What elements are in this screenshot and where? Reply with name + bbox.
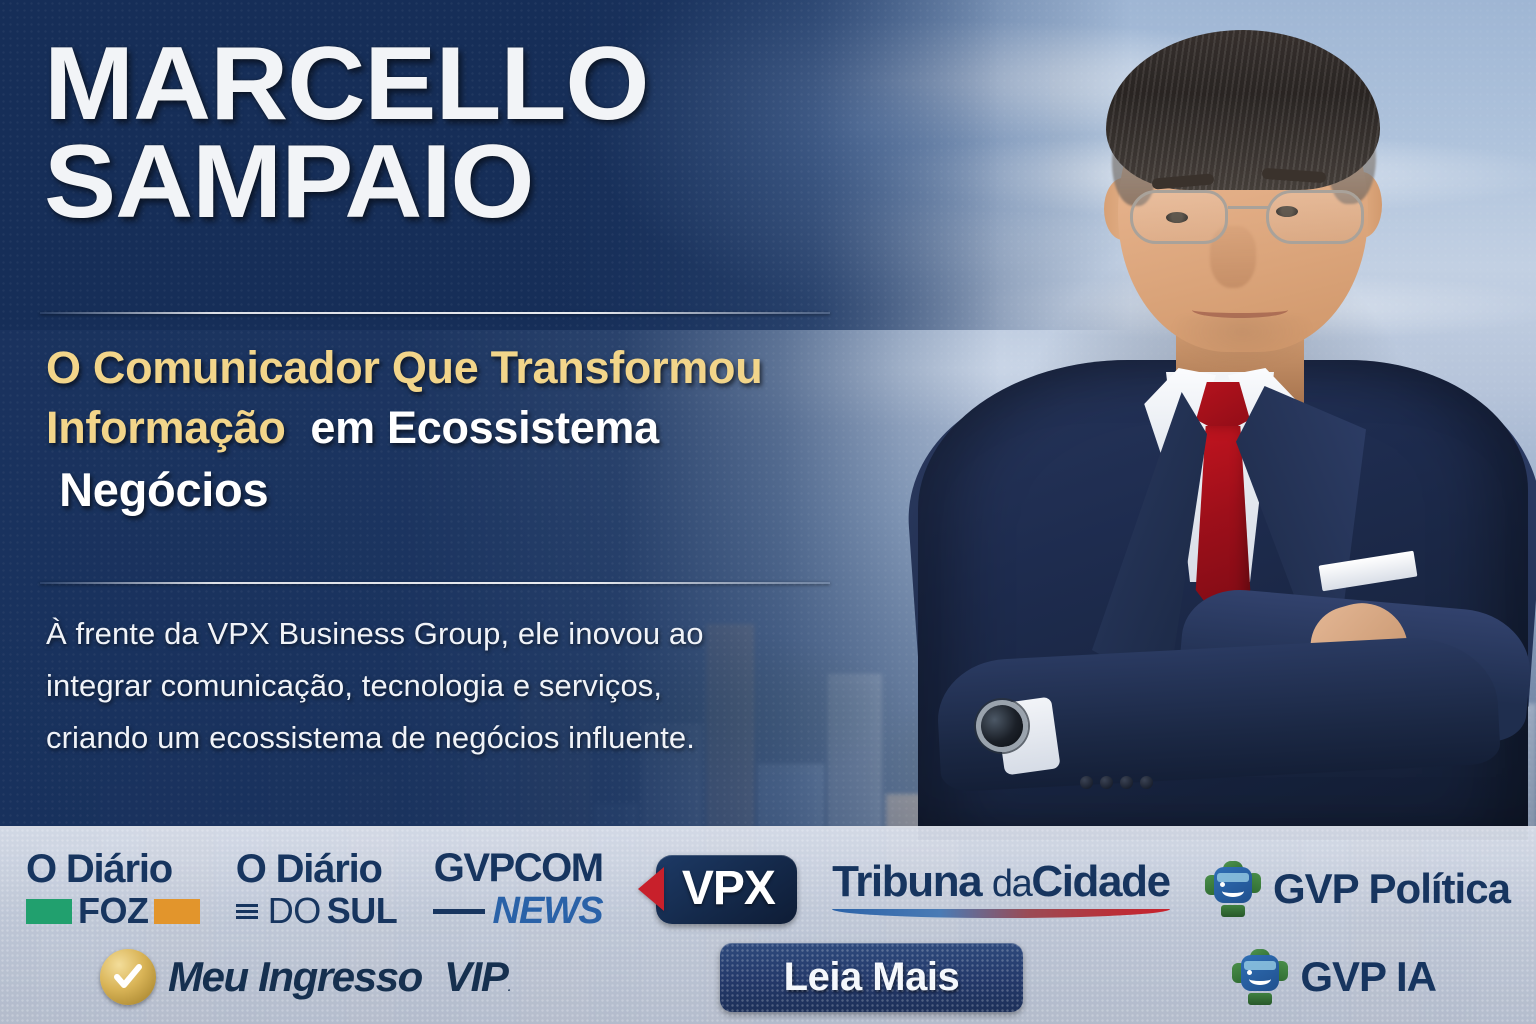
gvp-robot-mascot-icon (1232, 949, 1288, 1005)
avatar (880, 0, 1536, 840)
tribuna-middle: da (992, 863, 1031, 905)
subtitle-white-3: Negócios (59, 463, 268, 516)
diario-sul-prefix: DO (268, 893, 321, 929)
logo-meu-ingresso-vip[interactable]: Meu Ingresso VIP. (100, 949, 511, 1005)
subtitle-gold-2: Informação (46, 402, 286, 453)
divider-bottom (40, 582, 830, 584)
logo-gvp-ia[interactable]: GVP IA (1232, 949, 1436, 1005)
page-title: MARCELLO SAMPAIO (44, 36, 834, 232)
divider-top (40, 312, 830, 314)
hair (1106, 30, 1380, 190)
promo-banner: MARCELLO SAMPAIO O Comunicador Que Trans… (0, 0, 1536, 1024)
subtitle-gold-1: O Comunicador Que Transformou (46, 342, 762, 393)
diario-foz-word: FOZ (78, 893, 148, 929)
diario-sul-top: O Diário (236, 849, 398, 889)
title-line-2: SAMPAIO (44, 134, 834, 232)
logo-vpx[interactable]: VPX (638, 855, 797, 924)
leia-mais-label: Leia Mais (784, 955, 960, 999)
gvpcom-news-word: NEWS (493, 892, 603, 930)
tribuna-last: Cidade (1031, 857, 1169, 906)
mivip-prefix: Meu Ingresso (168, 953, 422, 1000)
sleeve-button (1100, 776, 1113, 789)
diario-sul-word: SUL (327, 893, 398, 929)
logo-o-diario-do-sul[interactable]: O Diário DO SUL (236, 849, 398, 929)
gradient-swoosh-icon (832, 909, 1170, 918)
green-swatch-icon (26, 899, 72, 924)
rule-icon (433, 909, 485, 914)
gvp-ia-label: GVP IA (1300, 953, 1436, 1001)
vpx-badge: VPX (656, 855, 797, 924)
logo-bar: O Diário FOZ O Diário DO SUL (0, 826, 1536, 1024)
subtitle-line-3: Negócios (46, 459, 926, 522)
hero-paragraph: À frente da VPX Business Group, ele inov… (46, 608, 846, 764)
logo-gvpcom-news[interactable]: GVPCOM NEWS (433, 848, 603, 930)
leia-mais-button[interactable]: Leia Mais (720, 943, 1024, 1012)
paragraph-line-1: À frente da VPX Business Group, ele inov… (46, 608, 846, 660)
title-line-1: MARCELLO (44, 36, 834, 134)
subtitle-line-1: O Comunicador Que Transformou (46, 338, 926, 398)
gold-check-circle-icon (100, 949, 156, 1005)
logo-gvp-politica[interactable]: GVP Política (1205, 861, 1510, 917)
subtitle-line-2: Informação em Ecossistema (46, 398, 926, 458)
logo-o-diario-foz[interactable]: O Diário FOZ (26, 849, 200, 929)
vpx-label: VPX (682, 862, 775, 915)
mivip-dot: . (507, 978, 510, 995)
subtitle-white-2: em Ecossistema (310, 402, 659, 453)
gvp-politica-label: GVP Política (1273, 865, 1510, 913)
logo-row-secondary: Meu Ingresso VIP. Leia Mais GVP IA (0, 940, 1536, 1014)
sleeve-button (1080, 776, 1093, 789)
paragraph-line-2: integrar comunicação, tecnologia e servi… (46, 660, 846, 712)
sleeve-button (1120, 776, 1133, 789)
gvp-robot-mascot-icon (1205, 861, 1261, 917)
hero-subtitle: O Comunicador Que Transformou Informação… (46, 338, 926, 522)
orange-swatch-icon (154, 899, 200, 924)
glasses-bridge (1228, 206, 1268, 209)
eyeglasses-icon (1128, 186, 1366, 252)
paragraph-line-3: criando um ecossistema de negócios influ… (46, 712, 846, 764)
red-triangle-icon (638, 867, 664, 911)
lens-left (1130, 190, 1228, 244)
hamburger-lines-icon (236, 904, 258, 919)
gvpcom-top: GVPCOM (434, 848, 603, 888)
diario-foz-top: O Diário (26, 849, 200, 889)
logo-row-primary: O Diário FOZ O Diário DO SUL (0, 850, 1536, 928)
lens-right (1266, 190, 1364, 244)
hero-content: MARCELLO SAMPAIO O Comunicador Que Trans… (0, 0, 960, 826)
logo-tribuna-da-cidade[interactable]: TribunadaCidade (832, 860, 1170, 918)
tribuna-first: Tribuna (832, 857, 981, 906)
sleeve-button (1140, 776, 1153, 789)
chin-shadow (1172, 316, 1312, 368)
mivip-suffix: VIP (444, 953, 508, 1000)
